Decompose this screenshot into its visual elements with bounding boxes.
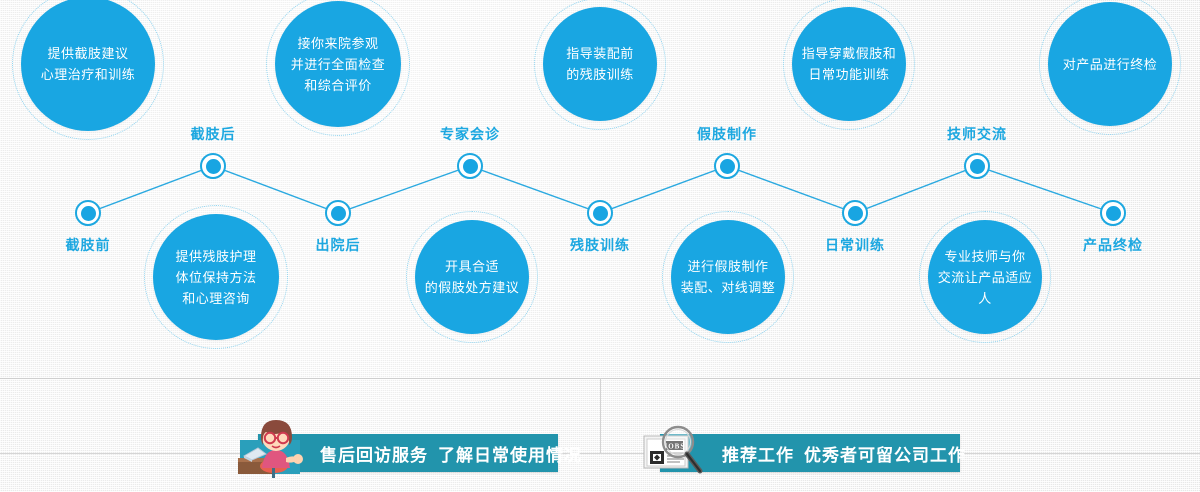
bubble-text-line: 的残肢训练 bbox=[558, 64, 642, 85]
timeline-node-9[interactable] bbox=[1100, 200, 1126, 226]
bubble-text-line: 并进行全面检查 bbox=[283, 54, 394, 75]
bubble-text-line: 指导穿戴假肢和 bbox=[794, 43, 905, 64]
info-bubble-b3[interactable]: 指导装配前的残肢训练 bbox=[543, 7, 657, 121]
info-bubble-b7[interactable]: 开具合适的假肢处方建议 bbox=[415, 220, 529, 334]
process-flow-infographic: 提供截肢建议心理治疗和训练接你来院参观并进行全面检查和综合评价指导装配前的残肢训… bbox=[0, 0, 1200, 492]
bubble-text-line: 提供截肢建议 bbox=[33, 43, 144, 64]
bubble-text-line: 和心理咨询 bbox=[167, 288, 264, 309]
info-bubble-b2[interactable]: 接你来院参观并进行全面检查和综合评价 bbox=[275, 1, 401, 127]
bubble-text-line: 指导装配前 bbox=[558, 43, 642, 64]
timeline-node-3[interactable] bbox=[325, 200, 351, 226]
timeline-node-label-9: 产品终检 bbox=[1083, 235, 1143, 255]
banner-text-primary: 推荐工作 bbox=[722, 446, 794, 465]
bubble-text-line: 心理治疗和训练 bbox=[33, 64, 144, 85]
woman-at-desk-icon bbox=[234, 410, 306, 482]
timeline-node-label-1: 截肢前 bbox=[66, 235, 111, 255]
info-bubble-b6[interactable]: 提供残肢护理体位保持方法和心理咨询 bbox=[153, 214, 279, 340]
timeline-node-label-8: 技师交流 bbox=[947, 124, 1007, 144]
timeline-node-label-7: 日常训练 bbox=[825, 235, 885, 255]
timeline-node-label-2: 截肢后 bbox=[191, 124, 236, 144]
bubble-text-line: 交流让产品适应人 bbox=[928, 267, 1042, 309]
timeline-node-6[interactable] bbox=[714, 153, 740, 179]
horizontal-connector-line bbox=[0, 453, 1200, 454]
bubble-text-line: 体位保持方法 bbox=[167, 267, 264, 288]
banner-job-referral[interactable]: JOBS 推荐工作优秀者可留公司工作 bbox=[660, 434, 960, 472]
bubble-text-line: 专业技师与你 bbox=[928, 246, 1042, 267]
info-bubble-b5[interactable]: 对产品进行终检 bbox=[1048, 2, 1172, 126]
bubble-text-line: 装配、对线调整 bbox=[673, 277, 784, 298]
timeline-node-label-6: 假肢制作 bbox=[697, 124, 757, 144]
banner-after-sales[interactable]: 售后回访服务了解日常使用情况 bbox=[258, 434, 558, 472]
timeline-node-label-3: 出院后 bbox=[316, 235, 361, 255]
timeline-node-label-4: 专家会诊 bbox=[440, 124, 500, 144]
info-bubble-b4[interactable]: 指导穿戴假肢和日常功能训练 bbox=[792, 7, 906, 121]
bubble-text-line: 日常功能训练 bbox=[794, 64, 905, 85]
timeline-node-2[interactable] bbox=[200, 153, 226, 179]
timeline-node-4[interactable] bbox=[457, 153, 483, 179]
bubble-text-line: 对产品进行终检 bbox=[1055, 54, 1166, 75]
info-bubble-b9[interactable]: 专业技师与你交流让产品适应人 bbox=[928, 220, 1042, 334]
bubble-text-line: 进行假肢制作 bbox=[673, 256, 784, 277]
banner-text-secondary: 优秀者可留公司工作 bbox=[804, 446, 966, 465]
bubble-text-line: 的假肢处方建议 bbox=[417, 277, 528, 298]
bubble-text-line: 和综合评价 bbox=[283, 75, 394, 96]
info-bubble-b1[interactable]: 提供截肢建议心理治疗和训练 bbox=[21, 0, 155, 131]
vertical-connector-line bbox=[600, 378, 601, 454]
timeline-node-1[interactable] bbox=[75, 200, 101, 226]
timeline-node-label-5: 残肢训练 bbox=[570, 235, 630, 255]
bubble-text-line: 提供残肢护理 bbox=[167, 246, 264, 267]
bubble-text-line: 接你来院参观 bbox=[283, 33, 394, 54]
timeline-node-5[interactable] bbox=[587, 200, 613, 226]
banner-text-secondary: 了解日常使用情况 bbox=[438, 446, 582, 465]
banner-text-primary: 售后回访服务 bbox=[320, 446, 428, 465]
jobs-newspaper-magnifier-icon: JOBS bbox=[636, 410, 708, 482]
timeline-node-7[interactable] bbox=[842, 200, 868, 226]
info-bubble-b8[interactable]: 进行假肢制作装配、对线调整 bbox=[671, 220, 785, 334]
bubble-text-line: 开具合适 bbox=[417, 256, 528, 277]
timeline-node-8[interactable] bbox=[964, 153, 990, 179]
